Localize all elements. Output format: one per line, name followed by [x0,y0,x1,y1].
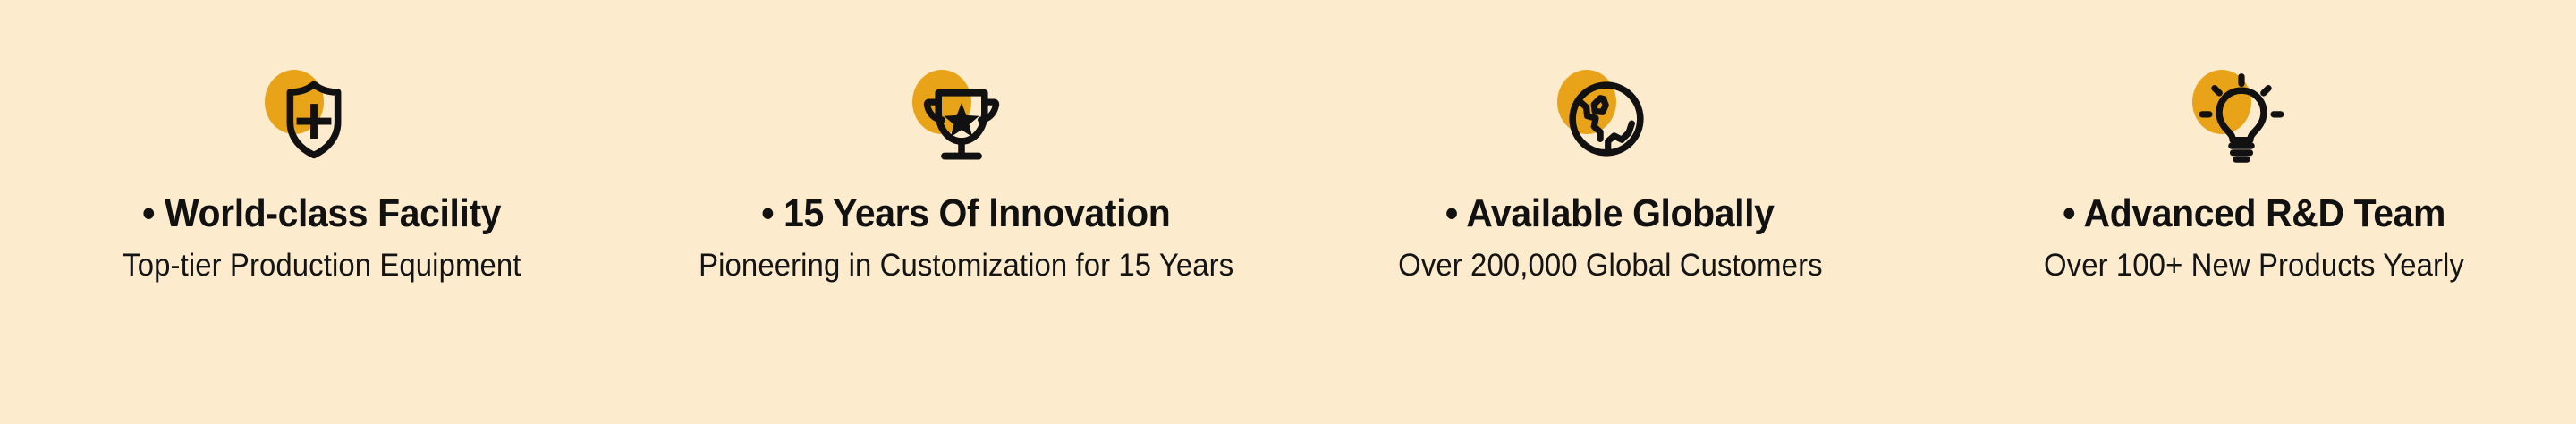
feature-text-block: • Advanced R&D Team Over 100+ New Produc… [1932,193,2576,284]
globe-icon [1557,70,1656,168]
feature-icon-container [247,66,381,172]
feature-headline: • World-class Facility [142,193,501,235]
feature-headline: • 15 Years Of lnnovation [761,193,1170,235]
feature-icon-container [1539,66,1674,172]
trophy-star-icon [912,70,1011,168]
feature-item-available-globally: • Available Globally Over 200,000 Global… [1288,0,1932,424]
lightbulb-icon [2192,70,2291,168]
feature-subline: Over 200,000 Global Customers [1398,248,1823,284]
feature-icon-container [2174,66,2309,172]
features-banner: • World-class Facility Top-tier Producti… [0,0,2576,424]
feature-subline: Pioneering in Customization for 15 Years [699,248,1233,284]
feature-subline: Top-tier Production Equipment [123,248,521,284]
feature-subline: Over 100+ New Products Yearly [2044,248,2464,284]
feature-text-block: • 15 Years Of lnnovation Pioneering in C… [644,193,1288,284]
feature-item-advanced-rd-team: • Advanced R&D Team Over 100+ New Produc… [1932,0,2576,424]
feature-item-15-years-of-innovation: • 15 Years Of lnnovation Pioneering in C… [644,0,1288,424]
feature-text-block: • World-class Facility Top-tier Producti… [0,193,644,284]
feature-icon-container [894,66,1029,172]
feature-item-world-class-facility: • World-class Facility Top-tier Producti… [0,0,644,424]
feature-headline: • Advanced R&D Team [2063,193,2445,235]
feature-text-block: • Available Globally Over 200,000 Global… [1288,193,1932,284]
feature-headline: • Available Globally [1445,193,1775,235]
shield-plus-icon [265,70,363,168]
